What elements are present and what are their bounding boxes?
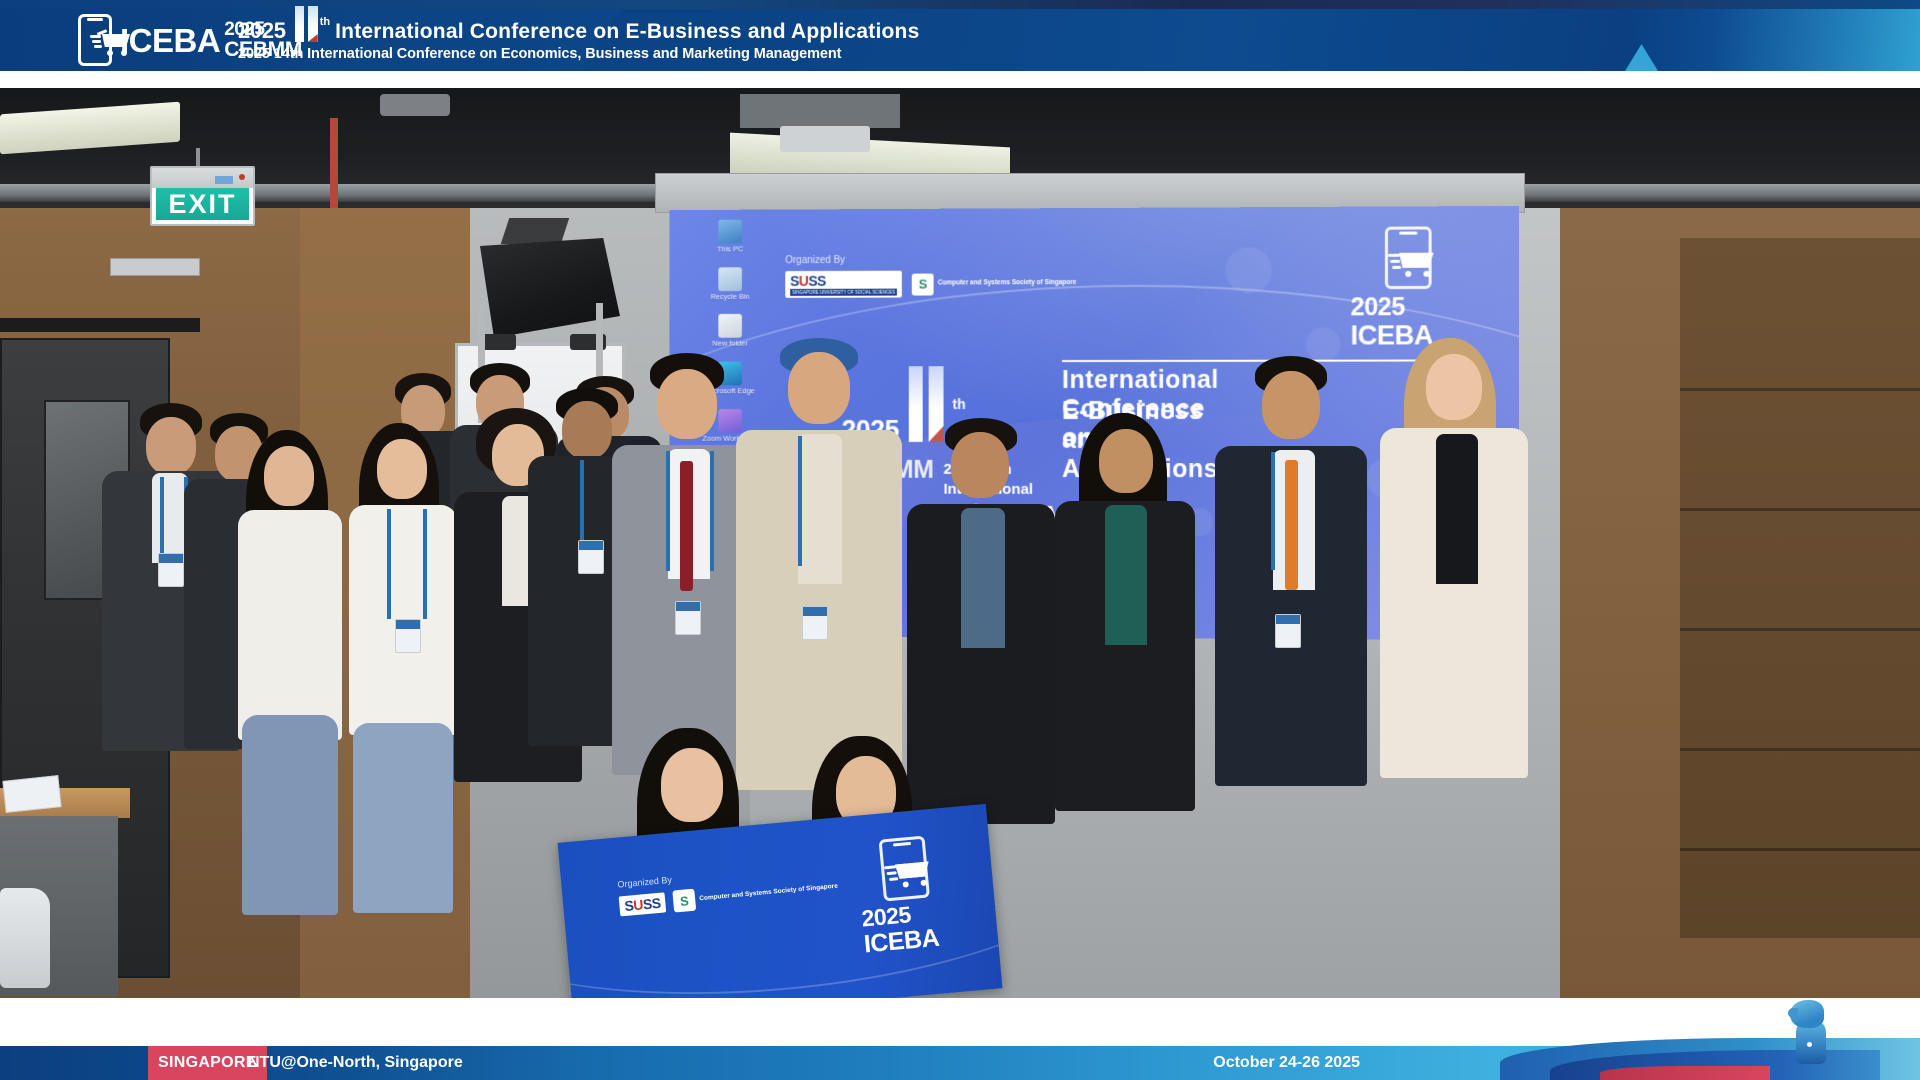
necktie [680, 461, 693, 591]
footer-venue: NTU@One-North, Singapore [248, 1046, 463, 1080]
header-main-title: International Conference on E-Business a… [335, 20, 919, 44]
header-year: 2025 [238, 18, 286, 44]
suss-wordmark: SUSS [624, 895, 661, 914]
page-header: ICEBA 2025 CEBMM 2025 th International C… [0, 0, 1920, 88]
footer-wave-red [1600, 1066, 1770, 1080]
footer-venue-label: NTU@One-North, Singapore [248, 1054, 463, 1072]
footer-date: October 24-26 2025 [1213, 1046, 1360, 1080]
necktie [1285, 460, 1298, 590]
header-right-wedge [1620, 9, 1920, 71]
banner-brand-block: 2025 ICEBA [855, 832, 975, 957]
header-subtitle: 2025 14th International Conference on Ec… [238, 46, 919, 62]
merlion-icon [1788, 1000, 1832, 1062]
header-top-strip [0, 0, 1920, 9]
header-ordinal-number [295, 14, 323, 44]
logo-wordmark: ICEBA [120, 24, 220, 57]
cube-icon: S [672, 889, 696, 913]
bag-on-floor [0, 888, 50, 988]
phone-cart-icon [879, 836, 930, 902]
page-footer: SINGAPORE NTU@One-North, Singapore Octob… [0, 998, 1920, 1080]
conference-photo-page: ICEBA 2025 CEBMM 2025 th International C… [0, 0, 1920, 1080]
header-title-block: 2025 th International Conference on E-Bu… [238, 14, 919, 62]
phone-cart-icon [78, 14, 112, 66]
suss-logo: SUSS [619, 892, 667, 916]
group-photo: EXIT This PC [0, 88, 1920, 998]
footer-country-label: SINGAPORE [158, 1054, 257, 1072]
papers-on-desk [2, 775, 61, 813]
footer-date-label: October 24-26 2025 [1213, 1054, 1360, 1072]
header-ordinal-suffix: th [320, 16, 330, 28]
